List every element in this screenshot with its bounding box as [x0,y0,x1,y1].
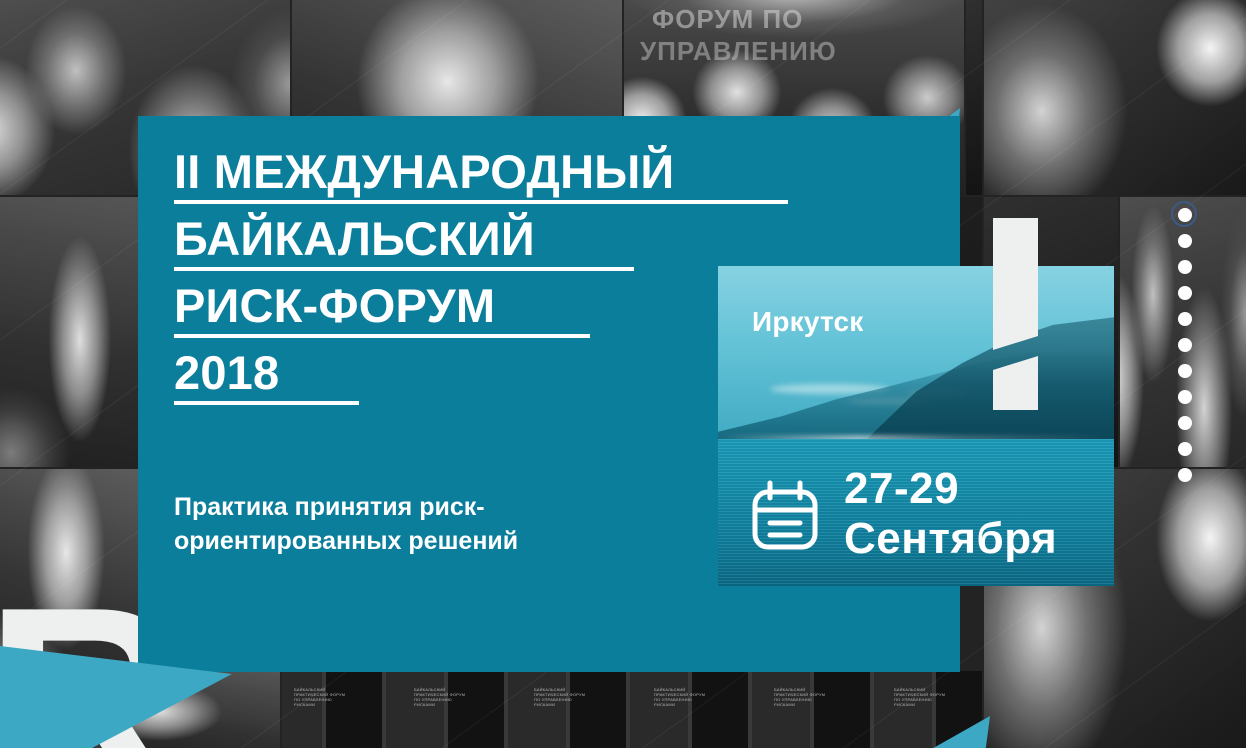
headline-line-3-text: РИСК-ФОРУМ [174,280,517,332]
background-photo-tile [966,0,982,195]
accent-triangle-panel-bottom [898,716,998,748]
headline-underline [174,334,590,338]
headline-underline [174,200,788,204]
accent-triangle-bottom-left [0,610,232,748]
date-range-text: 27-29 [844,464,1057,514]
hero-banner: ФОРУМ ПО УПРАВЛЕНИЮ БАЙКАЛЬСКИЙ ПРАКТИЧЕ… [0,0,1246,748]
sign-caption: БАЙКАЛЬСКИЙ ПРАКТИЧЕСКИЙ ФОРУМ ПО УПРАВЛ… [294,687,345,707]
sign-caption: БАЙКАЛЬСКИЙ ПРАКТИЧЕСКИЙ ФОРУМ ПО УПРАВЛ… [414,687,465,707]
banner-caption-line-1: ФОРУМ ПО [652,4,803,35]
banner-caption-line-2: УПРАВЛЕНИЮ [640,36,837,67]
slide-dot-5[interactable] [1171,306,1199,332]
sign-caption: БАЙКАЛЬСКИЙ ПРАКТИЧЕСКИЙ ФОРУМ ПО УПРАВЛ… [654,687,705,707]
slide-dot-8[interactable] [1171,384,1199,410]
slide-dot-11[interactable] [1171,462,1199,488]
headline-line-2-text: БАЙКАЛЬСКИЙ [174,213,557,265]
sign-caption: БАЙКАЛЬСКИЙ ПРАКТИЧЕСКИЙ ФОРУМ ПО УПРАВЛ… [774,687,825,707]
slide-dot-9[interactable] [1171,410,1199,436]
forum-logo-mark-icon [993,218,1038,410]
city-label: Иркутск [752,306,864,338]
headline-line-2: БАЙКАЛЬСКИЙ [174,213,874,271]
slide-dot-1[interactable] [1171,202,1199,228]
sign-caption: БАЙКАЛЬСКИЙ ПРАКТИЧЕСКИЙ ФОРУМ ПО УПРАВЛ… [534,687,585,707]
headline-underline [174,267,634,271]
headline-line-1: II МЕЖДУНАРОДНЫЙ [174,146,874,204]
slide-dot-2[interactable] [1171,228,1199,254]
slide-dot-3[interactable] [1171,254,1199,280]
slide-dot-6[interactable] [1171,332,1199,358]
background-photo-tile [984,0,1246,195]
date-block: 27-29 Сентября [844,464,1057,564]
slide-dot-navigation[interactable] [1171,202,1199,488]
headline-underline [174,401,359,405]
calendar-icon [746,478,824,556]
background-photo-strip-signage: БАЙКАЛЬСКИЙ ПРАКТИЧЕСКИЙ ФОРУМ ПО УПРАВЛ… [282,671,982,748]
subtitle-text: Практика принятия риск-ориентированных р… [174,490,644,558]
headline-year-text: 2018 [174,347,301,399]
sign-caption: БАЙКАЛЬСКИЙ ПРАКТИЧЕСКИЙ ФОРУМ ПО УПРАВЛ… [894,687,945,707]
slide-dot-4[interactable] [1171,280,1199,306]
background-photo-tile [0,197,140,467]
date-month-text: Сентября [844,514,1057,564]
slide-dot-10[interactable] [1171,436,1199,462]
date-location-card: Иркутск 27-29 Сентября [718,266,1114,586]
headline-line-1-text: II МЕЖДУНАРОДНЫЙ [174,146,696,198]
slide-dot-7[interactable] [1171,358,1199,384]
